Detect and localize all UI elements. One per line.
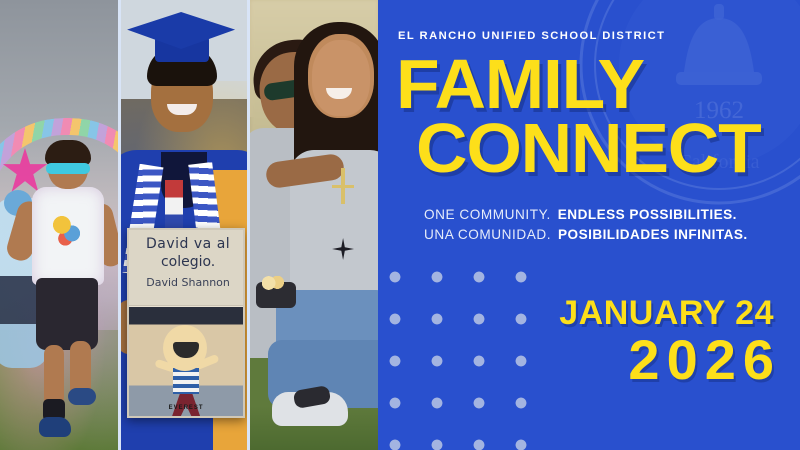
district-name: EL RANCHO UNIFIED SCHOOL DISTRICT [398,30,665,42]
boy-shorts [36,278,98,350]
picture-book-cover: David va al colegio. David Shannon EVERE… [127,228,245,418]
photo-mother-and-daughter [250,0,378,450]
tagline-row-english: ONE COMMUNITY. ENDLESS POSSIBILITIES. [424,205,748,225]
cross-necklace [328,168,358,204]
photo-strip: David va al colegio. David Shannon EVERE… [0,0,378,450]
boy-left-shoe [39,417,71,437]
event-date-day: JANUARY 24 [559,296,774,330]
tagline-english-bold: ENDLESS POSSIBILITIES. [558,205,737,225]
photo-graduate-with-book: David va al colegio. David Shannon EVERE… [121,0,247,450]
title-line-connect: CONNECT [416,116,800,180]
event-date-year: 2026 [559,330,781,390]
boy-right-shoe [68,388,96,405]
book-character-shirt [173,368,199,394]
event-title: FAMILY CONNECT [396,52,800,181]
tagline-block: ONE COMMUNITY. ENDLESS POSSIBILITIES. UN… [424,205,748,244]
daughter-face [312,40,370,116]
book-title-line-2: colegio. [137,254,239,270]
snack-kernels [262,276,284,290]
family-connect-banner: David va al colegio. David Shannon EVERE… [0,0,800,450]
medal-ribbon [165,180,183,232]
title-line-family: FAMILY [396,52,800,116]
boy-left-leg [44,345,64,407]
book-title-line-1: David va al [137,236,239,252]
boy-sunglasses [46,163,90,174]
book-publisher: EVEREST [129,405,243,411]
tagline-english-light: ONE COMMUNITY. [424,205,551,225]
book-author: David Shannon [137,276,239,289]
event-date: JANUARY 24 2026 [559,296,774,390]
boy-runner [30,145,104,445]
tagline-spanish-light: UNA COMUNIDAD. [424,225,551,245]
photo-color-run-boy [0,0,118,450]
dot-pattern-decoration [378,250,536,450]
tagline-spanish-bold: POSIBILIDADES INFINITAS. [558,225,748,245]
info-panel: Pico Rivera 1962 California EL RANCHO UN… [378,0,800,450]
tagline-row-spanish: UNA COMUNIDAD. POSIBILIDADES INFINITAS. [424,225,748,245]
tshirt-graphic [50,213,84,247]
